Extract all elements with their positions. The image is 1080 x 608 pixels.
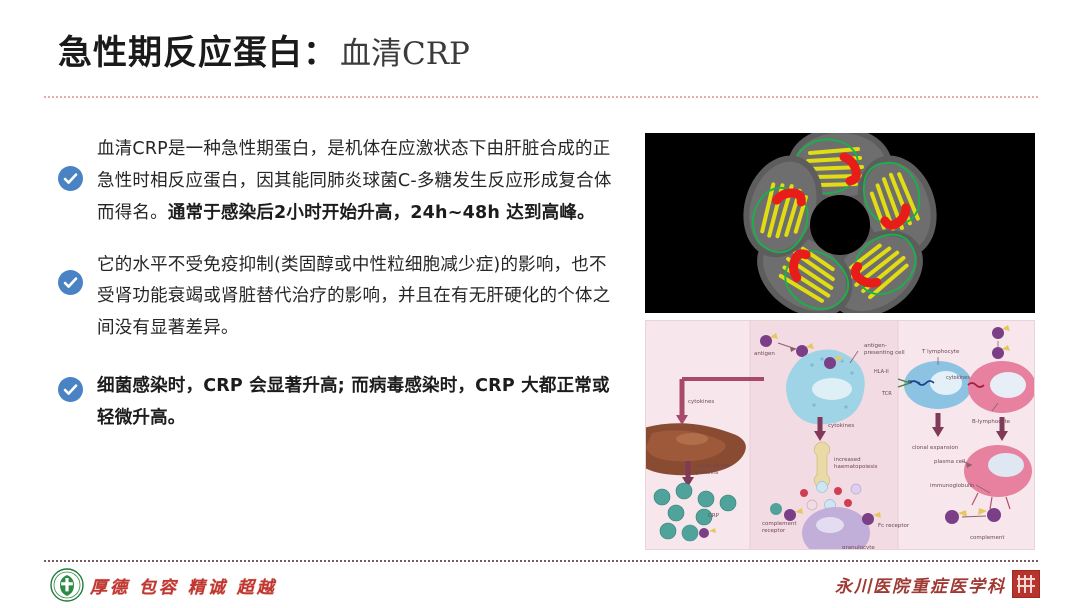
check-circle-icon — [58, 270, 83, 295]
page-title-main: 急性期反应蛋白： — [58, 36, 338, 70]
footer-divider — [44, 560, 1038, 562]
svg-text:cytokines: cytokines — [828, 423, 854, 429]
title-divider — [44, 96, 1038, 98]
svg-text:HLA-II: HLA-II — [874, 369, 889, 375]
svg-text:acute phase: acute phase — [696, 463, 730, 469]
list-item: 细菌感染时，CRP 会显著升高; 而病毒感染时，CRP 大都正常或轻微升高。 — [58, 371, 633, 435]
svg-text:granulocyte: granulocyte — [842, 545, 875, 549]
check-circle-icon — [58, 377, 83, 402]
svg-text:cytokines: cytokines — [688, 399, 714, 405]
svg-text:Fc receptor: Fc receptor — [878, 523, 910, 529]
slide-root: 急性期反应蛋白： 血清CRP 血清CRP是一种急性期蛋白，是机体在应激状态下由肝… — [0, 0, 1080, 608]
svg-text:cytokines: cytokines — [946, 375, 970, 381]
svg-text:complement: complement — [970, 535, 1005, 541]
list-item-text: 血清CRP是一种急性期蛋白，是机体在应激状态下由肝脏合成的正急性时相反应蛋白，因… — [97, 134, 617, 230]
footer-department: 永川医院重症医学科 — [835, 572, 1006, 597]
bullet-list: 血清CRP是一种急性期蛋白，是机体在应激状态下由肝脏合成的正急性时相反应蛋白，因… — [58, 134, 633, 457]
footer-left: 厚德 包容 精诚 超越 — [50, 568, 277, 602]
svg-text:haematopoiesis: haematopoiesis — [834, 464, 878, 470]
svg-text:T lymphocyte: T lymphocyte — [921, 349, 960, 355]
check-circle-icon — [58, 166, 83, 191]
list-item: 它的水平不受免疫抑制(类固醇或中性粒细胞减少症)的影响，也不受肾功能衰竭或肾脏替… — [58, 250, 633, 346]
list-item: 血清CRP是一种急性期蛋白，是机体在应激状态下由肝脏合成的正急性时相反应蛋白，因… — [58, 134, 633, 230]
svg-text:receptor: receptor — [762, 528, 786, 534]
list-item-text: 细菌感染时，CRP 会显著升高; 而病毒感染时，CRP 大都正常或轻微升高。 — [97, 371, 617, 435]
acute-phase-response-diagram-image: cytokines acute phase proteins CRP antig… — [645, 320, 1035, 550]
footer-right: 永川医院重症医学科 — [835, 570, 1040, 598]
svg-text:antigen: antigen — [754, 351, 775, 357]
svg-text:TCR: TCR — [881, 391, 892, 397]
svg-text:B-lymphocyte: B-lymphocyte — [972, 419, 1011, 425]
svg-text:presenting cell: presenting cell — [864, 350, 905, 356]
svg-text:increased: increased — [834, 457, 861, 463]
svg-text:proteins: proteins — [696, 470, 719, 476]
crp-pentamer-structure-image — [645, 133, 1035, 313]
svg-text:antigen-: antigen- — [864, 343, 887, 349]
svg-text:immunoglobulin: immunoglobulin — [930, 483, 975, 489]
page-title-sub: 血清CRP — [340, 39, 470, 70]
list-item-text-bold: 通常于感染后2小时开始升高，24h~48h 达到高峰。 — [168, 203, 595, 223]
red-seal-icon — [1012, 570, 1040, 598]
svg-text:complement: complement — [762, 521, 797, 527]
page-title: 急性期反应蛋白： 血清CRP — [58, 36, 470, 70]
svg-text:plasma cell: plasma cell — [934, 459, 966, 465]
footer-slogan: 厚德 包容 精诚 超越 — [90, 573, 277, 598]
svg-text:CRP: CRP — [708, 513, 720, 519]
hospital-logo-icon — [50, 568, 84, 602]
svg-text:clonal expansion: clonal expansion — [912, 445, 959, 451]
list-item-text: 它的水平不受免疫抑制(类固醇或中性粒细胞减少症)的影响，也不受肾功能衰竭或肾脏替… — [97, 250, 617, 346]
